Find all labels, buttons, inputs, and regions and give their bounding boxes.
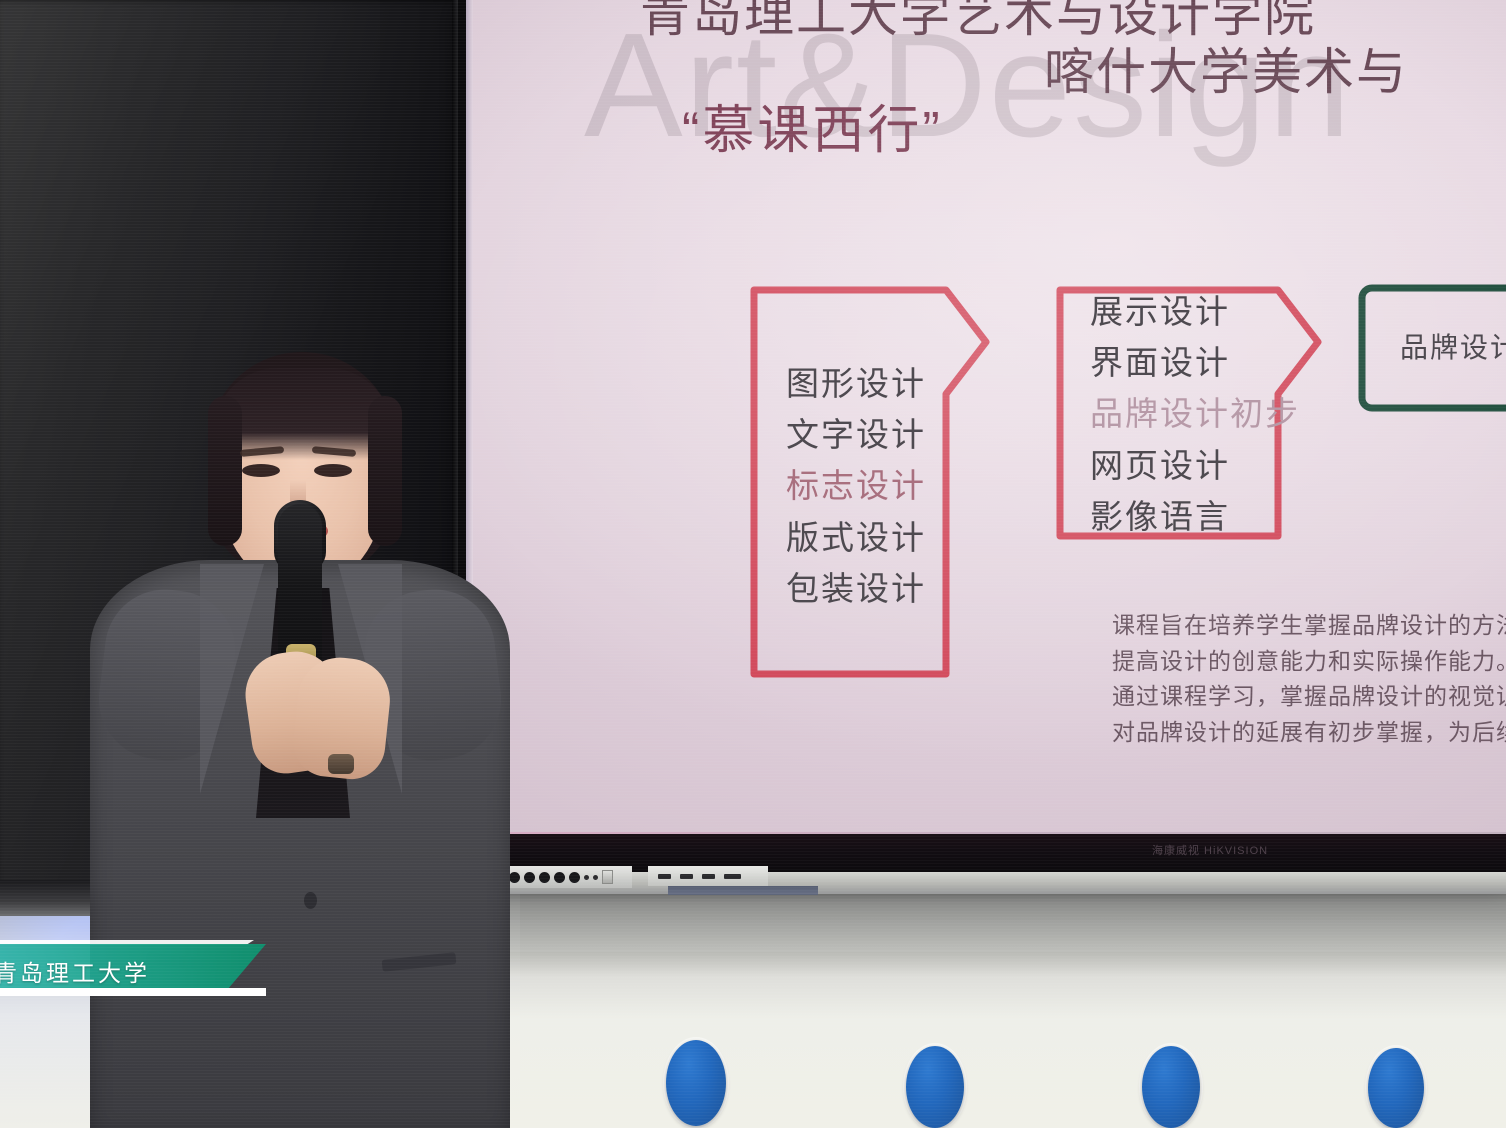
description-line: 课程旨在培养学生掌握品牌设计的方法与技能进 [1112, 608, 1506, 644]
course-item: 展示设计 [1090, 286, 1300, 337]
display-foot [668, 886, 818, 895]
course-list: 图形设计 文字设计 标志设计 版式设计 包装设计 [786, 358, 926, 614]
course-item: 版式设计 [786, 512, 926, 563]
course-item: 品牌设计 [1400, 326, 1506, 369]
usb-port-icon[interactable] [702, 874, 715, 879]
course-item: 文字设计 [786, 409, 926, 460]
presenter [90, 352, 510, 1128]
course-box-intermediate: 展示设计 界面设计 品牌设计初步 网页设计 影像语言 [1054, 280, 1302, 546]
stool-seat [1368, 1048, 1424, 1128]
indicator-led-icon [593, 875, 598, 880]
usb-port-icon[interactable] [658, 874, 671, 879]
indicator-led-icon [584, 875, 589, 880]
control-button-icon[interactable] [554, 872, 565, 883]
sensor-window-icon [602, 870, 613, 884]
course-item: 图形设计 [786, 358, 926, 409]
slide-title-line-2: 喀什大学美术与 [1044, 46, 1408, 99]
lower-third-banner: 青岛理工大学 [0, 944, 266, 992]
presenter-hair-side [368, 396, 402, 546]
course-item: 包装设计 [786, 563, 926, 614]
screenshot-stage: Art&Design 青岛理工大学艺术与设计学院 喀什大学美术与 “慕课西行” … [0, 0, 1506, 1128]
hdmi-port-icon[interactable] [724, 874, 741, 879]
stool-seat [906, 1046, 964, 1128]
presenter-eye [314, 464, 352, 477]
description-line: 提高设计的创意能力和实际操作能力。 [1112, 644, 1506, 680]
course-item: 品牌设计初步 [1090, 388, 1300, 439]
presentation-screen[interactable]: Art&Design 青岛理工大学艺术与设计学院 喀什大学美术与 “慕课西行” … [466, 0, 1506, 836]
display-brand-label: 海康威视 HiKVISION [1152, 842, 1268, 858]
course-item: 标志设计 [786, 460, 926, 511]
course-item: 界面设计 [1090, 337, 1300, 388]
control-button-icon[interactable] [569, 872, 580, 883]
banner-bottom-rule [0, 988, 266, 996]
course-list: 品牌设计 [1400, 326, 1506, 369]
banner-label: 青岛理工大学 [0, 954, 150, 988]
presenter-hair-side [208, 396, 242, 546]
slide-title-line-1: 青岛理工大学艺术与设计学院 [640, 0, 1316, 41]
control-button-icon[interactable] [509, 872, 520, 883]
control-button-icon[interactable] [524, 872, 535, 883]
course-item: 影像语言 [1090, 491, 1300, 542]
description-line: 对品牌设计的延展有初步掌握，为后续课程打下 [1112, 715, 1506, 751]
course-box-target: 品牌设计 [1356, 280, 1506, 416]
stool-seat [666, 1040, 726, 1126]
course-item: 网页设计 [1090, 440, 1300, 491]
blazer-button [304, 892, 317, 909]
display-port-panel [648, 866, 768, 886]
description-line: 通过课程学习，掌握品牌设计的视觉识别系统， [1112, 679, 1506, 715]
course-list: 展示设计 界面设计 品牌设计初步 网页设计 影像语言 [1090, 286, 1300, 542]
course-box-foundation: 图形设计 文字设计 标志设计 版式设计 包装设计 [748, 280, 996, 684]
stool-seat [1142, 1046, 1200, 1128]
usb-port-icon[interactable] [680, 874, 693, 879]
slide-description: 课程旨在培养学生掌握品牌设计的方法与技能进 提高设计的创意能力和实际操作能力。 … [1112, 608, 1506, 751]
control-button-icon[interactable] [539, 872, 550, 883]
presenter-eye [242, 464, 280, 477]
slide-subtitle: “慕课西行” [682, 104, 943, 159]
presenter-watch [328, 754, 354, 774]
